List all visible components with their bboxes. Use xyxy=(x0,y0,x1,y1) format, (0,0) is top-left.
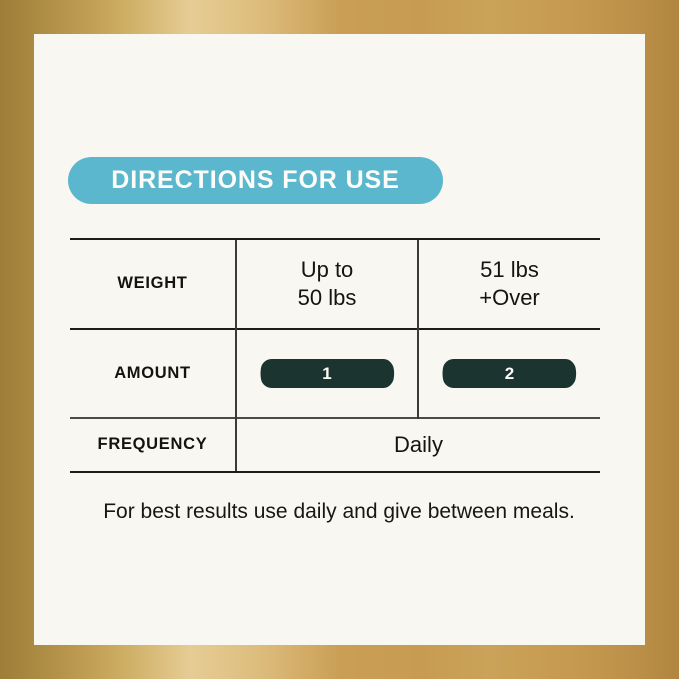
weight-cell-large-dog: 51 lbs +Over xyxy=(418,239,600,329)
amount-cell-large-dog: 2 xyxy=(418,329,600,418)
table-row-amount: AMOUNT 1 xyxy=(70,329,600,418)
chew-graphic-one: 1 xyxy=(237,358,417,389)
chew-graphic-two: 2 xyxy=(419,358,600,389)
table-row-frequency: FREQUENCY Daily xyxy=(70,418,600,472)
chew-count-one: 1 xyxy=(322,365,331,382)
weight-small-line2: 50 lbs xyxy=(237,284,417,312)
directions-card: DIRECTIONS FOR USE WEIGHT Up to 50 lbs xyxy=(34,34,645,645)
row-label-frequency: FREQUENCY xyxy=(70,418,236,472)
gold-border-frame: DIRECTIONS FOR USE WEIGHT Up to 50 lbs xyxy=(0,0,679,679)
row-label-weight: WEIGHT xyxy=(70,239,236,329)
dosage-table: WEIGHT Up to 50 lbs 51 lbs +Over AMOUNT xyxy=(70,238,600,473)
frequency-value: Daily xyxy=(236,418,600,472)
best-results-note: For best results use daily and give betw… xyxy=(64,498,614,525)
weight-cell-small-dog: Up to 50 lbs xyxy=(236,239,418,329)
directions-for-use-badge: DIRECTIONS FOR USE xyxy=(68,157,443,204)
weight-large-line1: 51 lbs xyxy=(419,256,600,284)
weight-large-line2: +Over xyxy=(419,284,600,312)
amount-cell-small-dog: 1 xyxy=(236,329,418,418)
table-row-weight: WEIGHT Up to 50 lbs 51 lbs +Over xyxy=(70,239,600,329)
weight-small-line1: Up to xyxy=(237,256,417,284)
badge-title: DIRECTIONS FOR USE xyxy=(111,168,399,193)
row-label-amount: AMOUNT xyxy=(70,329,236,418)
chew-count-two: 2 xyxy=(505,365,514,382)
